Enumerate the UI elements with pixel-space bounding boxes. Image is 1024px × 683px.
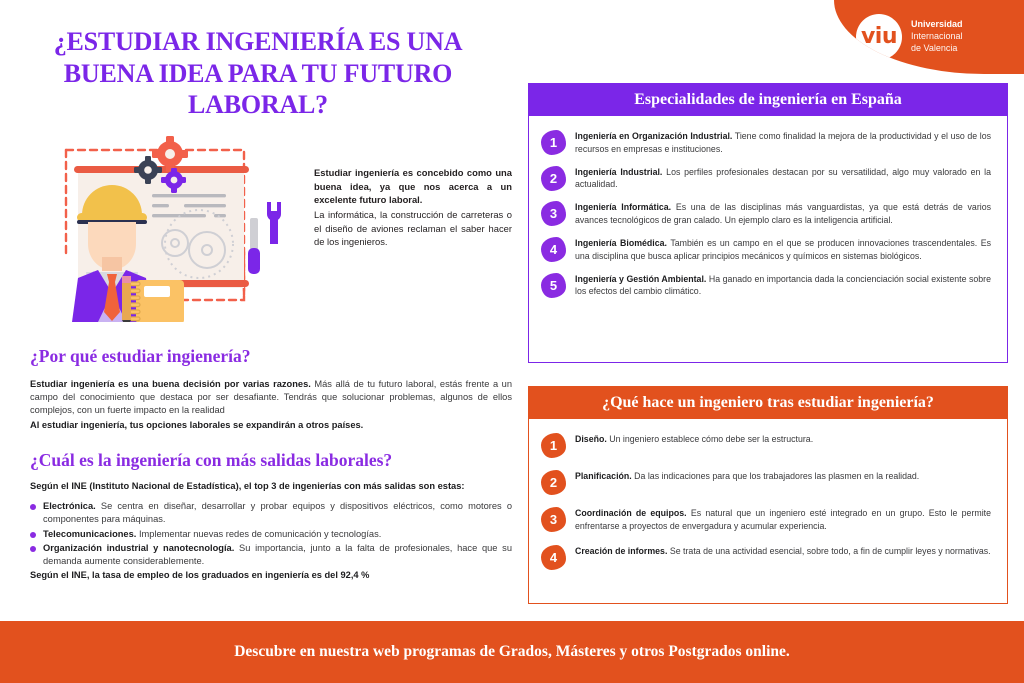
number-badge: 4: [541, 545, 566, 570]
number-badge: 4: [541, 237, 566, 262]
footer-cta-text: Descubre en nuestra web programas de Gra…: [234, 643, 790, 661]
number-badge: 1: [541, 130, 566, 155]
logo-line-1: Universidad: [911, 19, 963, 31]
list-item: 1 Ingeniería en Organización Industrial.…: [541, 129, 991, 156]
list-item: 2 Ingeniería Industrial. Los perfiles pr…: [541, 165, 991, 192]
panel-specialties: Especialidades de ingeniería en España 1…: [528, 83, 1008, 363]
viu-mark-circle: viu: [856, 14, 902, 60]
list-item: Organización industrial y nanotecnología…: [30, 542, 512, 568]
list-item: 2 Planificación. Da las indicaciones par…: [541, 469, 991, 495]
list-item: 5 Ingeniería y Gestión Ambiental. Ha gan…: [541, 272, 991, 299]
badge-number: 2: [541, 470, 566, 495]
panel-tasks-heading: ¿Qué hace un ingeniero tras estudiar ing…: [529, 387, 1007, 419]
badge-number: 3: [541, 201, 566, 226]
logo-university-name: Universidad Internacional de Valencia: [911, 19, 963, 54]
panel-engineer-tasks: ¿Qué hace un ingeniero tras estudiar ing…: [528, 386, 1008, 604]
list-item: 1 Diseño. Un ingeniero establece cómo de…: [541, 432, 991, 458]
page-title: ¿ESTUDIAR INGENIERÍA ES UNA BUENA IDEA P…: [28, 26, 488, 121]
bullet-term: Organización industrial y nanotecnología…: [43, 543, 234, 553]
item-term: Ingeniería Biomédica.: [575, 238, 667, 248]
section-best-heading: ¿Cuál es la ingeniería con más salidas l…: [30, 450, 392, 471]
intro-rest: La informática, la construcción de carre…: [314, 208, 512, 249]
section-why-heading: ¿Por qué estudiar ingienería?: [30, 346, 251, 367]
viu-wordmark: viu: [861, 26, 897, 48]
item-term: Coordinación de equipos.: [575, 508, 687, 518]
bullet-text: Implementar nuevas redes de comunicación…: [136, 529, 381, 539]
item-term: Ingeniería Informática.: [575, 202, 671, 212]
viu-logo[interactable]: viu Universidad Internacional de Valenci…: [834, 0, 1024, 74]
badge-number: 1: [541, 433, 566, 458]
item-term: Planificación.: [575, 471, 632, 481]
intro-lead: Estudiar ingeniería es concebido como un…: [314, 167, 512, 205]
section-why-body: Estudiar ingeniería es una buena decisió…: [30, 378, 512, 432]
left-column: ¿ESTUDIAR INGENIERÍA ES UNA BUENA IDEA P…: [0, 0, 516, 620]
badge-number: 3: [541, 507, 566, 532]
item-term: Diseño.: [575, 434, 607, 444]
wrench-icon: [267, 202, 281, 244]
item-term: Ingeniería en Organización Industrial.: [575, 131, 732, 141]
section-best-closing: Según el INE, la tasa de empleo de los g…: [30, 569, 512, 582]
item-term: Ingeniería y Gestión Ambiental.: [575, 274, 706, 284]
list-item: 4 Ingeniería Biomédica. También es un ca…: [541, 236, 991, 263]
section-best-lead: Según el INE (Instituto Nacional de Esta…: [30, 481, 465, 491]
pencil-icon: [122, 276, 131, 322]
screwdriver-icon: [248, 218, 260, 274]
notebook-icon: [130, 280, 184, 322]
number-badge: 2: [541, 166, 566, 191]
list-item: Electrónica. Se centra en diseñar, desar…: [30, 500, 512, 526]
bullet-term: Telecomunicaciones.: [43, 529, 136, 539]
number-badge: 3: [541, 507, 566, 532]
intro-text: Estudiar ingeniería es concebido como un…: [314, 166, 512, 249]
badge-number: 1: [541, 130, 566, 155]
number-badge: 3: [541, 201, 566, 226]
badge-number: 5: [541, 273, 566, 298]
badge-number: 4: [541, 545, 566, 570]
footer-cta-banner[interactable]: Descubre en nuestra web programas de Gra…: [0, 621, 1024, 683]
bullet-text: Se centra en diseñar, desarrollar y prob…: [43, 501, 512, 524]
best-bullet-list: Electrónica. Se centra en diseñar, desar…: [30, 500, 512, 568]
number-badge: 5: [541, 273, 566, 298]
list-item: 3 Coordinación de equipos. Es natural qu…: [541, 506, 991, 533]
logo-line-2: Internacional: [911, 31, 963, 43]
bullet-term: Electrónica.: [43, 501, 96, 511]
infographic-page: viu Universidad Internacional de Valenci…: [0, 0, 1024, 683]
item-term: Ingeniería Industrial.: [575, 167, 662, 177]
logo-line-3: de Valencia: [911, 43, 963, 55]
list-item: 3 Ingeniería Informática. Es una de las …: [541, 200, 991, 227]
badge-number: 4: [541, 237, 566, 262]
section-best-body: Según el INE (Instituto Nacional de Esta…: [30, 480, 512, 582]
item-term: Creación de informes.: [575, 546, 667, 556]
number-badge: 1: [541, 433, 566, 458]
engineer-whiteboard-illustration: [44, 132, 306, 322]
badge-number: 2: [541, 166, 566, 191]
section-why-closing: Al estudiar ingeniería, tus opciones lab…: [30, 419, 512, 432]
item-text: Da las indicaciones para que los trabaja…: [632, 471, 920, 481]
list-item: 4 Creación de informes. Se trata de una …: [541, 544, 991, 570]
number-badge: 2: [541, 470, 566, 495]
section-why-lead: Estudiar ingeniería es una buena decisió…: [30, 379, 311, 389]
item-text: Un ingeniero establece cómo debe ser la …: [607, 434, 813, 444]
list-item: Telecomunicaciones. Implementar nuevas r…: [30, 528, 512, 541]
item-text: Se trata de una actividad esencial, sobr…: [667, 546, 990, 556]
panel-specialties-heading: Especialidades de ingeniería en España: [529, 84, 1007, 116]
